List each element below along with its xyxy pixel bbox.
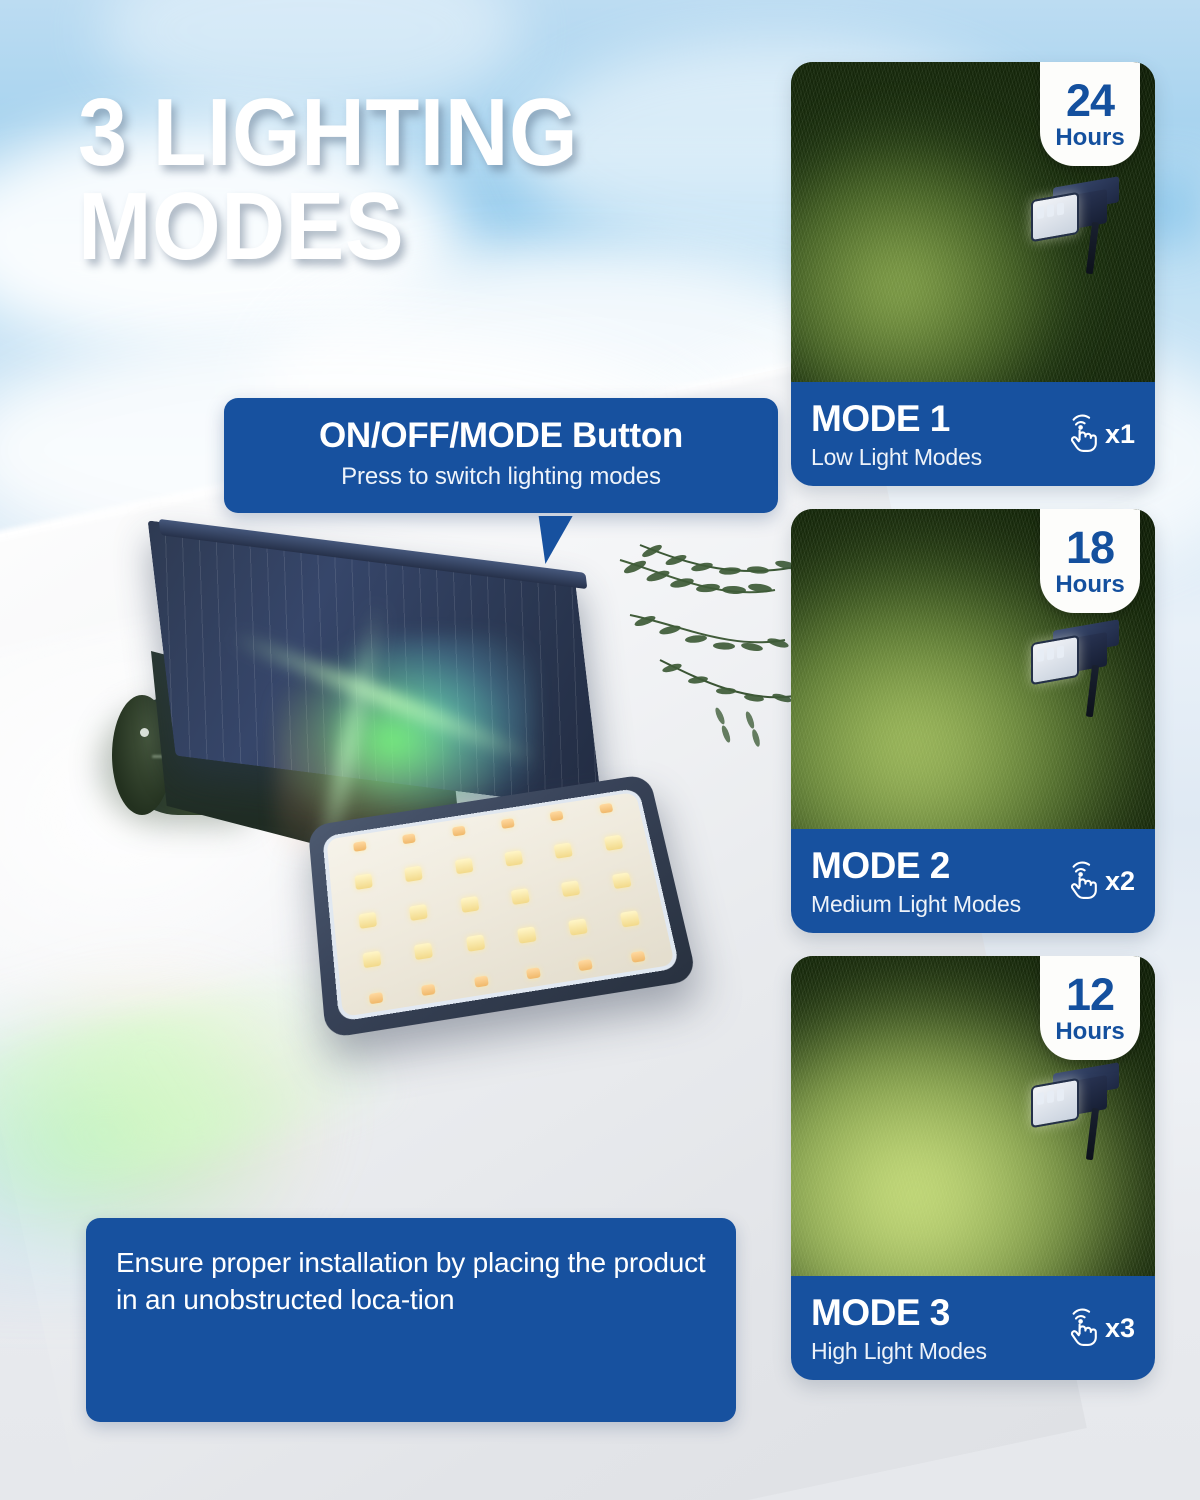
callout-pointer — [539, 516, 580, 564]
hours-value: 18 — [1066, 525, 1114, 570]
led-chip — [355, 873, 373, 890]
led-chip — [501, 818, 515, 829]
led-chip — [363, 951, 382, 969]
mode-card[interactable]: 24 Hours MODE 1 Low Light Modes — [791, 62, 1155, 486]
spotlight-stake — [1086, 222, 1099, 274]
mode-photo: 18 Hours — [791, 509, 1155, 829]
led-chip — [414, 943, 433, 960]
led-chip — [460, 896, 479, 913]
led-array — [337, 800, 663, 1007]
led-chip — [612, 872, 632, 889]
led-chip — [550, 810, 564, 821]
tap-indicator: x2 — [1056, 858, 1135, 904]
spotlight-led-head — [1031, 1078, 1079, 1128]
tap-hand-icon — [1056, 1305, 1102, 1351]
mode-description: Medium Light Modes — [811, 893, 1056, 916]
led-chip — [455, 858, 474, 874]
led-chip — [554, 842, 573, 858]
led-chip — [511, 888, 530, 905]
callout-subtitle: Press to switch lighting modes — [242, 463, 760, 491]
led-chip — [466, 935, 485, 952]
hours-badge: 24 Hours — [1040, 62, 1140, 166]
mode-card-list: 24 Hours MODE 1 Low Light Modes — [791, 62, 1155, 1403]
title-line-2: MODES — [78, 180, 667, 274]
product-image — [100, 540, 720, 1060]
led-chip — [504, 850, 523, 866]
button-callout: ON/OFF/MODE Button Press to switch light… — [224, 398, 778, 513]
mode-text: MODE 1 Low Light Modes — [811, 400, 1056, 469]
led-chip — [517, 927, 537, 944]
mode-text: MODE 2 Medium Light Modes — [811, 847, 1056, 916]
led-chip — [452, 826, 466, 837]
tap-count: x1 — [1105, 419, 1135, 450]
hours-value: 24 — [1066, 78, 1114, 123]
led-chip — [526, 967, 541, 979]
hours-label: Hours — [1055, 126, 1124, 150]
led-chip — [578, 959, 593, 971]
led-chip — [604, 835, 623, 851]
led-chip — [369, 992, 383, 1004]
spotlight-product — [1029, 1064, 1121, 1160]
mode-card[interactable]: 18 Hours MODE 2 Medium Light Modes — [791, 509, 1155, 933]
mode-label-bar: MODE 1 Low Light Modes — [791, 382, 1155, 486]
mode-text: MODE 3 High Light Modes — [811, 1294, 1056, 1363]
mode-label-bar: MODE 3 High Light Modes — [791, 1276, 1155, 1380]
led-chip — [405, 865, 423, 881]
led-chip — [409, 903, 428, 920]
spotlight-led-head — [1031, 192, 1079, 242]
led-chip — [599, 803, 613, 814]
spotlight-product — [1029, 621, 1121, 717]
hours-label: Hours — [1055, 573, 1124, 597]
hours-label: Hours — [1055, 1020, 1124, 1044]
spotlight-product — [1029, 178, 1121, 274]
mode-label-bar: MODE 2 Medium Light Modes — [791, 829, 1155, 933]
infographic-stage: 3 LIGHTING MODES ON/OFF/MODE Button Pres… — [0, 0, 1200, 1500]
mode-photo: 24 Hours — [791, 62, 1155, 382]
callout-title: ON/OFF/MODE Button — [242, 418, 760, 455]
led-chip — [620, 911, 640, 928]
led-chip — [359, 911, 377, 928]
tap-hand-icon — [1056, 411, 1102, 457]
mode-name: MODE 1 — [811, 400, 1056, 437]
mode-card[interactable]: 12 Hours MODE 3 High Light Modes — [791, 956, 1155, 1380]
led-chip — [569, 919, 589, 936]
installation-note: Ensure proper installation by placing th… — [86, 1218, 736, 1422]
spotlight-stake — [1086, 1108, 1099, 1160]
tap-count: x3 — [1105, 1313, 1135, 1344]
hours-badge: 18 Hours — [1040, 509, 1140, 613]
page-title: 3 LIGHTING MODES — [78, 86, 667, 274]
title-line-1: 3 LIGHTING — [78, 79, 578, 186]
mode-description: High Light Modes — [811, 1340, 1056, 1363]
tap-indicator: x1 — [1056, 411, 1135, 457]
hours-value: 12 — [1066, 972, 1114, 1017]
led-chip — [474, 975, 489, 987]
tap-hand-icon — [1056, 858, 1102, 904]
led-lamp-head — [304, 772, 685, 1028]
led-chip — [630, 951, 645, 963]
mode-name: MODE 3 — [811, 1294, 1056, 1331]
led-chip — [422, 984, 437, 996]
hours-badge: 12 Hours — [1040, 956, 1140, 1060]
mode-description: Low Light Modes — [811, 446, 1056, 469]
tap-count: x2 — [1105, 866, 1135, 897]
tap-indicator: x3 — [1056, 1305, 1135, 1351]
mode-photo: 12 Hours — [791, 956, 1155, 1276]
led-chip — [353, 841, 366, 852]
bracket-screw — [140, 728, 149, 737]
spotlight-led-head — [1031, 635, 1079, 685]
led-chip — [561, 880, 580, 897]
spotlight-stake — [1086, 665, 1099, 717]
led-chip — [403, 833, 417, 844]
mode-name: MODE 2 — [811, 847, 1056, 884]
